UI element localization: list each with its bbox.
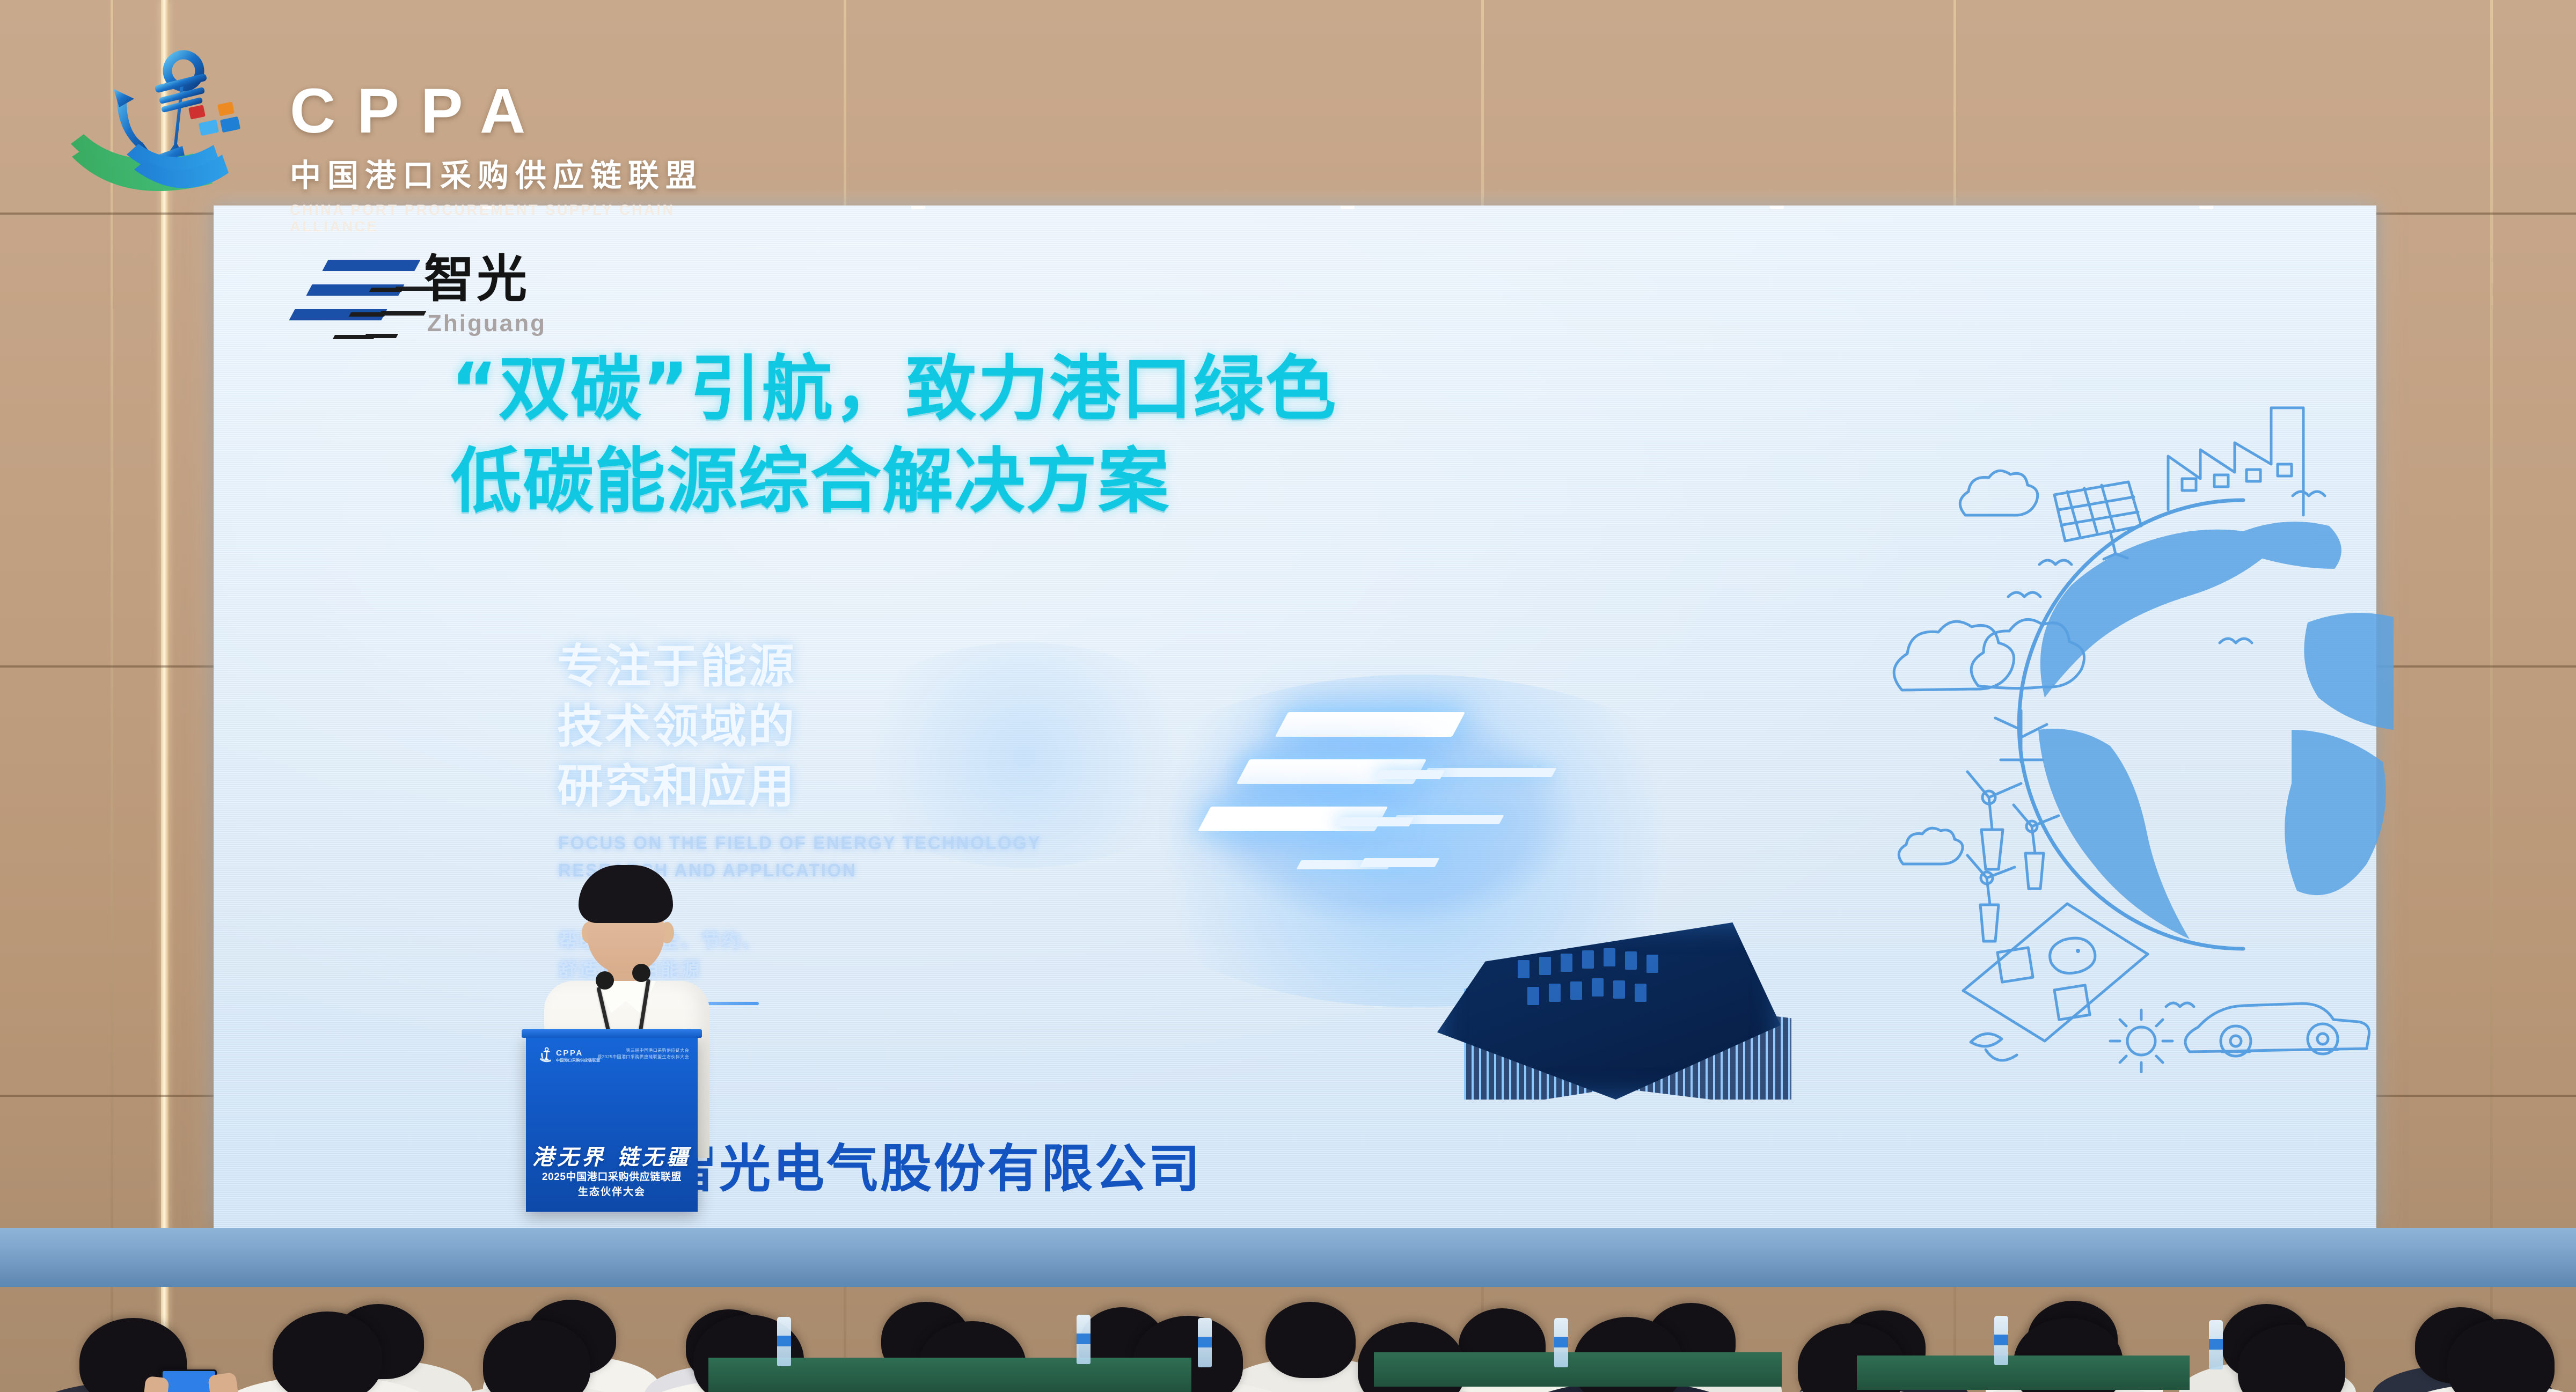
- bird-icon: [2220, 639, 2252, 643]
- cppa-acronym: CPPA: [290, 79, 767, 143]
- bird-icon: [2039, 560, 2072, 565]
- water-bottle: [1198, 1318, 1212, 1367]
- promo-headline-line1: 专注于能源: [557, 637, 796, 697]
- audience-seats: [0, 1197, 2576, 1392]
- screen-mount: [1341, 206, 1355, 209]
- podium-event-note: 第三届中国港口采购供应链大会 暨2025中国港口采购供应链联盟生态伙伴大会: [597, 1047, 689, 1060]
- water-bottle: [2209, 1320, 2223, 1369]
- attendee-head: [1265, 1302, 1356, 1378]
- plant-icon: [1971, 1034, 2017, 1060]
- globe-eco-doodle: [1868, 354, 2394, 1073]
- cppa-english-name: CHINA PORT PROCUREMENT SUPPLY CHAIN ALLI…: [290, 202, 767, 235]
- podium-org-chinese: 中国港口采购供应链联盟: [556, 1059, 601, 1064]
- bird-icon: [2293, 492, 2325, 496]
- water-bottle: [1554, 1318, 1568, 1367]
- podium-cppa-text: CPPA 中国港口采购供应链联盟: [556, 1049, 601, 1064]
- conference-table: [1857, 1356, 2190, 1390]
- speaker-podium: CPPA 中国港口采购供应链联盟 第三届中国港口采购供应链大会 暨2025中国港…: [526, 1035, 698, 1212]
- presenter-hair: [579, 865, 673, 923]
- podium-note-line1: 第三届中国港口采购供应链大会: [597, 1047, 689, 1054]
- wind-turbine-icon: [1967, 772, 2021, 869]
- screen-mount: [911, 206, 925, 209]
- cloud-icon: [1899, 828, 1963, 864]
- podium-top-edge: [522, 1029, 702, 1038]
- zhiguang-logo: 智光 Zhiguang: [268, 248, 569, 355]
- wind-turbine-icon: [2014, 805, 2059, 889]
- slide-title-line2: 低碳能源综合解决方案: [451, 436, 1846, 528]
- promo-headline: 专注于能源 技术领域的 研究和应用: [557, 637, 796, 817]
- promo-headline-line2: 技术领域的: [557, 697, 796, 757]
- conference-table: [1374, 1352, 1782, 1387]
- podium-note-line2: 暨2025中国港口采购供应链联盟生态伙伴大会: [597, 1054, 689, 1060]
- promo-headline-line3: 研究和应用: [557, 757, 796, 817]
- promo-subtitle-line1: FOCUS ON THE FIELD OF ENERGY TECHNOLOGY: [558, 829, 1041, 856]
- screen-mount: [2199, 206, 2213, 209]
- water-bottle: [777, 1317, 791, 1366]
- conference-room-wall: CPPA 中国港口采购供应链联盟 CHINA PORT PROCUREMENT …: [0, 0, 2576, 1392]
- bird-icon: [2008, 592, 2040, 597]
- cloud-icon: [1960, 471, 2037, 515]
- zhiguang-pinyin: Zhiguang: [427, 310, 546, 337]
- glowing-zhiguang-mark: [1201, 712, 1587, 927]
- bird-icon: [2166, 1003, 2194, 1007]
- podium-calligraphy: 港无界 链无疆: [526, 1140, 698, 1171]
- cppa-wall-logo: CPPA 中国港口采购供应链联盟 CHINA PORT PROCUREMENT …: [59, 32, 767, 209]
- slide-title: “双碳”引航，致力港口绿色 低碳能源综合解决方案: [451, 343, 1846, 528]
- slide-title-line1: “双碳”引航，致力港口绿色: [451, 343, 1846, 436]
- cppa-chinese-name: 中国港口采购供应链联盟: [290, 150, 767, 195]
- podium-anchor-icon: [539, 1046, 553, 1064]
- water-bottle: [1994, 1316, 2008, 1365]
- screen-mount: [1770, 206, 1784, 209]
- water-bottle: [1077, 1315, 1091, 1364]
- podium-event-line1: 2025中国港口采购供应链联盟: [526, 1169, 698, 1183]
- car-icon: [2185, 1003, 2369, 1056]
- anchor-icon: [59, 32, 274, 209]
- podium-event-line2: 生态伙伴大会: [526, 1184, 698, 1198]
- zhiguang-chinese: 智光: [424, 254, 529, 305]
- wall-seam: [2490, 0, 2493, 1392]
- globe-icon: [2012, 499, 2394, 950]
- solar-panel-icon: [2054, 482, 2141, 559]
- cppa-text-block: CPPA 中国港口采购供应链联盟 CHINA PORT PROCUREMENT …: [290, 79, 767, 235]
- attendee-hand: [208, 1372, 241, 1392]
- sun-icon: [2110, 1010, 2172, 1072]
